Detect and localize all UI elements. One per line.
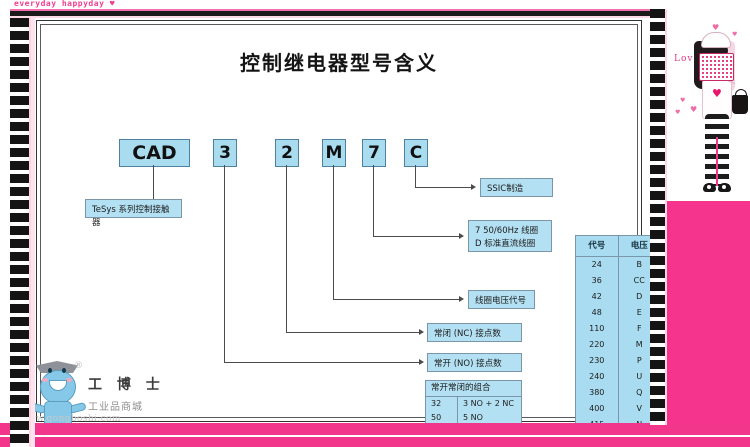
heart-icon: ♥: [712, 23, 719, 32]
decorative-girl-panel: Love . ♥ ♥ ♥ ♥ ♥ ♥: [650, 9, 750, 425]
voltage-table: 代号 24 36 42 48 110 220 230 240 380 400 4…: [575, 235, 661, 434]
connector-arrow: [471, 184, 476, 190]
registered-mark: ®: [74, 361, 83, 371]
note-no-contacts: 常开 (NO) 接点数: [427, 353, 522, 372]
mascot-eye-icon: [48, 368, 52, 373]
combination-table-body: 32 50 3 NO + 2 NC 5 NO: [426, 397, 521, 425]
brand-subtitle: 工业品商城: [88, 398, 143, 413]
note-voltage-code: 线圈电压代号: [468, 290, 535, 309]
heart-icon: ♥: [690, 105, 697, 114]
heart-icon: ♥: [680, 97, 685, 104]
code-chip-label: 7: [368, 143, 380, 163]
connector-line: [415, 165, 416, 187]
code-chip-label: CAD: [132, 142, 176, 164]
note-coil-line2: D 标准直流线圈: [475, 238, 545, 251]
connector-arrow: [459, 296, 464, 302]
frame-tagline: everyday happyday ♥: [14, 0, 115, 8]
girl-shoe-dot: [722, 185, 726, 189]
girl-leg-gap: [716, 137, 718, 186]
connector-line: [224, 362, 419, 363]
code-chip-label: C: [410, 143, 422, 163]
note-nc-contacts: 常闭 (NC) 接点数: [427, 323, 522, 342]
code-chip-2[interactable]: 2: [275, 139, 299, 167]
note-manufacture: SSIC制造: [480, 178, 553, 197]
watermark-logo: ® 工 博 士 工业品商城 www.gongboshi.com: [12, 358, 187, 424]
connector-line: [286, 332, 419, 333]
voltage-code-cell: 230: [576, 353, 618, 369]
voltage-table-header-code: 代号: [576, 236, 618, 257]
girl-hat: [701, 32, 731, 48]
girl-gift-box: [699, 53, 734, 81]
voltage-code-cell: 36: [576, 273, 618, 289]
voltage-code-cell: 110: [576, 321, 618, 337]
connector-line: [373, 165, 374, 236]
connector-arrow: [419, 359, 424, 365]
page-title: 控制继电器型号含义: [37, 47, 641, 76]
brand-name: 工 博 士: [88, 374, 165, 394]
connector-line: [333, 299, 459, 300]
note-coil: 7 50/60Hz 线圈 D 标准直流线圈: [468, 220, 552, 252]
girl-handbag: [732, 95, 748, 114]
combination-table-header: 常开常闭的组合: [426, 381, 521, 397]
mascot-eye-icon: [62, 368, 66, 373]
code-chip-label: M: [326, 143, 343, 163]
frame-left-piano-keys: [10, 18, 31, 447]
voltage-code-cell: 400: [576, 401, 618, 417]
combination-code-column: 32 50: [426, 397, 458, 425]
deco-pink-area: [667, 201, 750, 425]
frame-left-accent: [31, 18, 35, 447]
frame-bottom-band-2: [0, 437, 750, 447]
connector-arrow: [419, 329, 424, 335]
frame-bottom-band: [0, 423, 750, 435]
connector-arrow: [459, 233, 464, 239]
voltage-code-cell: 220: [576, 337, 618, 353]
voltage-code-cell: 42: [576, 289, 618, 305]
combination-code: 32: [431, 397, 457, 411]
voltage-code-column: 代号 24 36 42 48 110 220 230 240 380 400 4…: [576, 236, 619, 433]
connector-line: [373, 236, 459, 237]
code-chip-m[interactable]: M: [322, 139, 346, 167]
voltage-code-cell: 240: [576, 369, 618, 385]
connector-line: [286, 165, 287, 332]
deco-piano-keys: [650, 9, 667, 425]
code-chip-cad[interactable]: CAD: [119, 139, 190, 167]
code-chip-c[interactable]: C: [404, 139, 428, 167]
connector-line: [224, 165, 225, 362]
voltage-code-cell: 24: [576, 257, 618, 273]
note-series: TeSys 系列控制接触器: [85, 199, 182, 218]
connector-line: [415, 187, 471, 188]
voltage-code-cell: 48: [576, 305, 618, 321]
code-chip-7[interactable]: 7: [362, 139, 386, 167]
combination-value: 3 NO + 2 NC: [463, 397, 521, 411]
girl-shoe-dot: [707, 185, 711, 189]
code-chip-label: 2: [281, 143, 293, 163]
heart-icon: ♥: [732, 31, 737, 38]
mascot-cheek-icon: [42, 378, 48, 382]
heart-icon: ♥: [675, 109, 680, 116]
connector-line: [333, 165, 334, 299]
voltage-code-cell: 380: [576, 385, 618, 401]
girl-heart-icon: ♥: [712, 87, 722, 100]
code-chip-label: 3: [219, 143, 231, 163]
combination-value-column: 3 NO + 2 NC 5 NO: [458, 397, 521, 425]
note-coil-line1: 7 50/60Hz 线圈: [475, 225, 545, 238]
frame-top-bar-accent: [10, 16, 650, 18]
code-chip-3[interactable]: 3: [213, 139, 237, 167]
